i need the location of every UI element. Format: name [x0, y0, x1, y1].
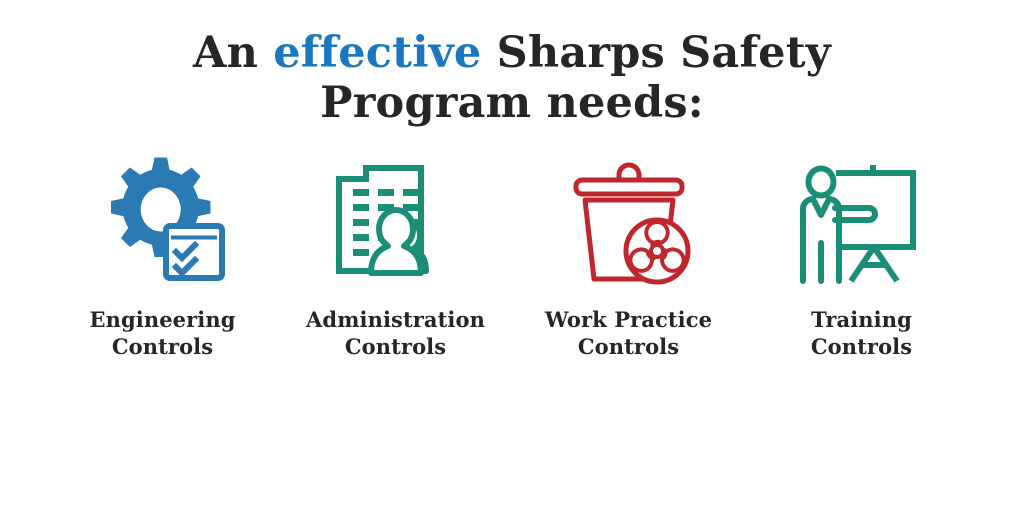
controls-row: Engineering Controls [46, 152, 978, 360]
control-item-administration: Administration Controls [279, 152, 512, 360]
sharps-bin-biohazard-icon [554, 152, 704, 292]
headline-text-after: Sharps Safety [481, 28, 830, 78]
headline-text-before: An [193, 28, 273, 78]
trainer-whiteboard-icon [787, 152, 937, 292]
headline-line-1: An effective Sharps Safety [0, 28, 1024, 78]
control-label-line-2: Controls [545, 333, 712, 360]
headline-accent-word: effective [273, 28, 481, 78]
control-label-engineering: Engineering Controls [89, 306, 235, 360]
control-label-line-2: Controls [811, 333, 912, 360]
infographic-slide: An effective Sharps Safety Program needs… [0, 0, 1024, 512]
control-label-line-1: Training [811, 306, 912, 333]
headline-line-2: Program needs: [0, 78, 1024, 128]
building-people-icon [321, 152, 471, 292]
control-item-work-practice: Work Practice Controls [512, 152, 745, 360]
control-label-administration: Administration Controls [306, 306, 485, 360]
control-label-training: Training Controls [811, 306, 912, 360]
control-label-line-1: Administration [306, 306, 485, 333]
control-label-line-2: Controls [306, 333, 485, 360]
gear-checklist-icon [88, 152, 238, 292]
control-label-line-1: Work Practice [545, 306, 712, 333]
control-item-training: Training Controls [745, 152, 978, 360]
control-label-line-2: Controls [89, 333, 235, 360]
control-label-line-1: Engineering [89, 306, 235, 333]
control-label-work-practice: Work Practice Controls [545, 306, 712, 360]
control-item-engineering: Engineering Controls [46, 152, 279, 360]
page-title: An effective Sharps Safety Program needs… [0, 28, 1024, 128]
